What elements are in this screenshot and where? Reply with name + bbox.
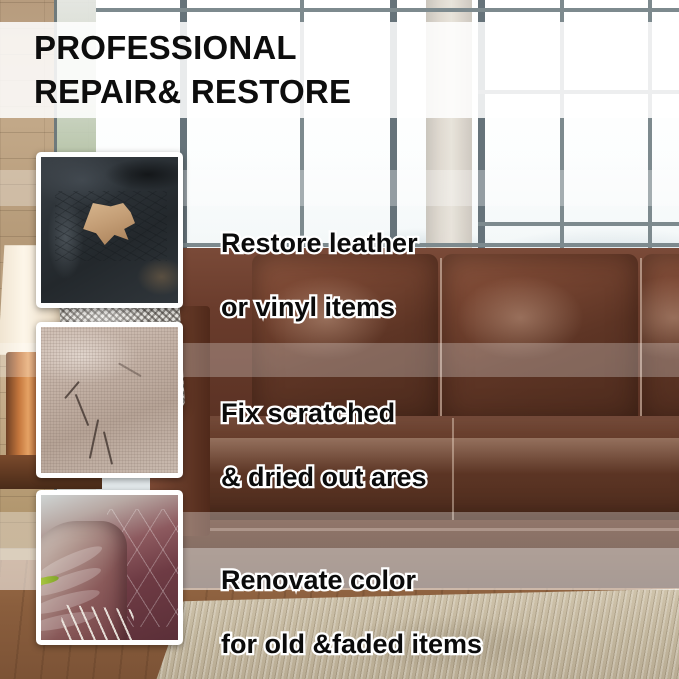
feature-thumbnail-fix-scratched (36, 322, 183, 478)
sofa-back-cushion (642, 254, 679, 422)
seat-cushion-seam (452, 418, 454, 522)
feature-3-line-1: Renovate color (221, 565, 482, 597)
feature-1-line-2: or vinyl items (221, 292, 418, 324)
feature-1-line-1: Restore leather (221, 228, 418, 260)
cushion-piping (440, 258, 442, 418)
feature-thumbnail-restore-leather (36, 152, 183, 308)
feature-2-line-2: & dried out ares (221, 462, 427, 494)
feature-thumbnail-renovate-color (36, 490, 183, 645)
feature-text-restore-leather: Restore leather or vinyl items (221, 196, 418, 355)
window-mullion-horizontal (90, 8, 679, 12)
sofa-back-cushion (442, 254, 638, 422)
feature-text-renovate-color: Renovate color for old &faded items (221, 533, 482, 679)
feature-text-fix-scratched: Fix scratched & dried out ares (221, 366, 427, 525)
headline-line-2: REPAIR& RESTORE (34, 70, 534, 114)
feature-2-line-1: Fix scratched (221, 398, 427, 430)
feature-3-line-2: for old &faded items (221, 629, 482, 661)
headline-line-1: PROFESSIONAL (34, 26, 534, 70)
window-mullion-horizontal (478, 222, 679, 226)
headline: PROFESSIONAL REPAIR& RESTORE (34, 26, 534, 113)
cushion-piping (640, 258, 642, 418)
nailhead-studs (60, 605, 135, 645)
product-infographic: PROFESSIONAL REPAIR& RESTORE Restore lea… (0, 0, 679, 679)
